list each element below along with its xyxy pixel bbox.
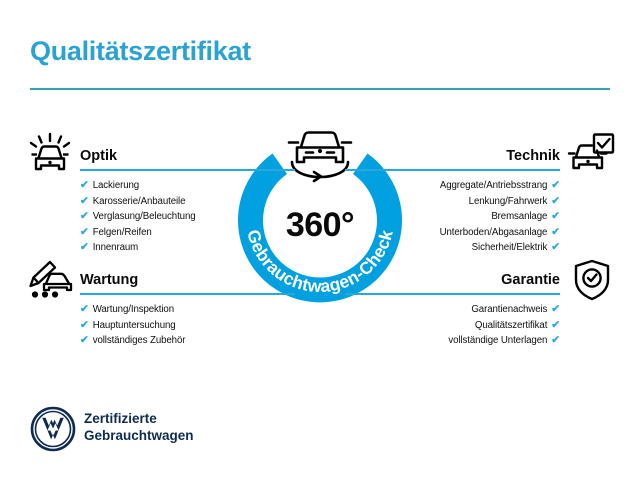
section-technik-heading: Technik — [345, 148, 560, 164]
car-service-pencil-icon — [26, 258, 76, 307]
list-item: ✔Hauptuntersuchung — [80, 318, 295, 334]
check-icon: ✔ — [80, 334, 89, 346]
list-item-label: Bremsanlage — [491, 211, 547, 222]
section-wartung-list: ✔Wartung/Inspektion ✔Hauptuntersuchung ✔… — [80, 302, 295, 349]
car-shine-icon — [26, 132, 74, 183]
section-wartung: Wartung ✔Wartung/Inspektion ✔Hauptunters… — [80, 272, 295, 349]
section-optik-list: ✔Lackierung ✔Karosserie/Anbauteile ✔Verg… — [80, 178, 295, 256]
list-item-label: Felgen/Reifen — [93, 227, 152, 238]
page-title: Qualitätszertifikat — [30, 36, 251, 67]
shield-check-icon — [572, 258, 612, 307]
check-icon: ✔ — [551, 226, 560, 238]
list-item: Unterboden/Abgasanlage✔ — [345, 225, 560, 241]
section-optik: Optik ✔Lackierung ✔Karosserie/Anbauteile… — [80, 148, 295, 256]
title-divider — [30, 88, 610, 90]
list-item-label: Garantienachweis — [471, 304, 547, 315]
list-item-label: Qualitätszertifikat — [475, 320, 547, 331]
list-item-label: Lackierung — [93, 180, 139, 191]
list-item-label: Lenkung/Fahrwerk — [469, 196, 548, 207]
list-item-label: Aggregate/Antriebsstrang — [440, 180, 547, 191]
list-item: ✔Felgen/Reifen — [80, 225, 295, 241]
list-item: ✔Karosserie/Anbauteile — [80, 194, 295, 210]
list-item: Qualitätszertifikat✔ — [345, 318, 560, 334]
section-garantie-list: Garantienachweis✔ Qualitätszertifikat✔ v… — [345, 302, 560, 349]
check-icon: ✔ — [551, 195, 560, 207]
list-item: ✔Lackierung — [80, 178, 295, 194]
check-icon: ✔ — [551, 334, 560, 346]
list-item-label: Hauptuntersuchung — [93, 320, 176, 331]
check-icon: ✔ — [80, 179, 89, 191]
section-garantie-heading: Garantie — [345, 272, 560, 288]
section-optik-divider — [80, 169, 295, 171]
footer-brand-text: Zertifizierte Gebrauchtwagen — [84, 410, 194, 444]
list-item: Garantienachweis✔ — [345, 302, 560, 318]
list-item-label: Karosserie/Anbauteile — [93, 196, 186, 207]
section-wartung-heading: Wartung — [80, 272, 295, 288]
check-icon: ✔ — [80, 303, 89, 315]
section-wartung-divider — [80, 293, 295, 295]
section-technik-divider — [345, 169, 560, 171]
check-icon: ✔ — [551, 241, 560, 253]
car-checkbox-icon — [566, 132, 616, 183]
list-item: Bremsanlage✔ — [345, 209, 560, 225]
footer-line-2: Gebrauchtwagen — [84, 427, 194, 444]
section-optik-heading: Optik — [80, 148, 295, 164]
list-item-label: Wartung/Inspektion — [93, 304, 174, 315]
list-item: Sicherheit/Elektrik✔ — [345, 240, 560, 256]
section-garantie-divider — [345, 293, 560, 295]
section-technik-list: Aggregate/Antriebsstrang✔ Lenkung/Fahrwe… — [345, 178, 560, 256]
list-item: ✔Verglasung/Beleuchtung — [80, 209, 295, 225]
volkswagen-logo — [30, 406, 76, 452]
list-item: vollständige Unterlagen✔ — [345, 333, 560, 349]
list-item-label: vollständiges Zubehör — [93, 335, 186, 346]
list-item-label: Unterboden/Abgasanlage — [440, 227, 548, 238]
certificate-page: Qualitätszertifikat — [0, 0, 640, 480]
list-item: Aggregate/Antriebsstrang✔ — [345, 178, 560, 194]
list-item-label: Innenraum — [93, 242, 138, 253]
check-icon: ✔ — [551, 210, 560, 222]
check-icon: ✔ — [80, 319, 89, 331]
check-icon: ✔ — [80, 210, 89, 222]
list-item-label: Verglasung/Beleuchtung — [93, 211, 196, 222]
check-icon: ✔ — [80, 241, 89, 253]
section-technik: Technik Aggregate/Antriebsstrang✔ Lenkun… — [345, 148, 560, 256]
list-item: ✔vollständiges Zubehör — [80, 333, 295, 349]
check-icon: ✔ — [80, 226, 89, 238]
list-item: ✔Wartung/Inspektion — [80, 302, 295, 318]
footer-line-1: Zertifizierte — [84, 410, 194, 427]
check-icon: ✔ — [551, 179, 560, 191]
list-item: ✔Innenraum — [80, 240, 295, 256]
list-item-label: vollständige Unterlagen — [448, 335, 547, 346]
check-icon: ✔ — [551, 303, 560, 315]
check-icon: ✔ — [80, 195, 89, 207]
list-item-label: Sicherheit/Elektrik — [472, 242, 548, 253]
section-garantie: Garantie Garantienachweis✔ Qualitätszert… — [345, 272, 560, 349]
check-icon: ✔ — [551, 319, 560, 331]
list-item: Lenkung/Fahrwerk✔ — [345, 194, 560, 210]
